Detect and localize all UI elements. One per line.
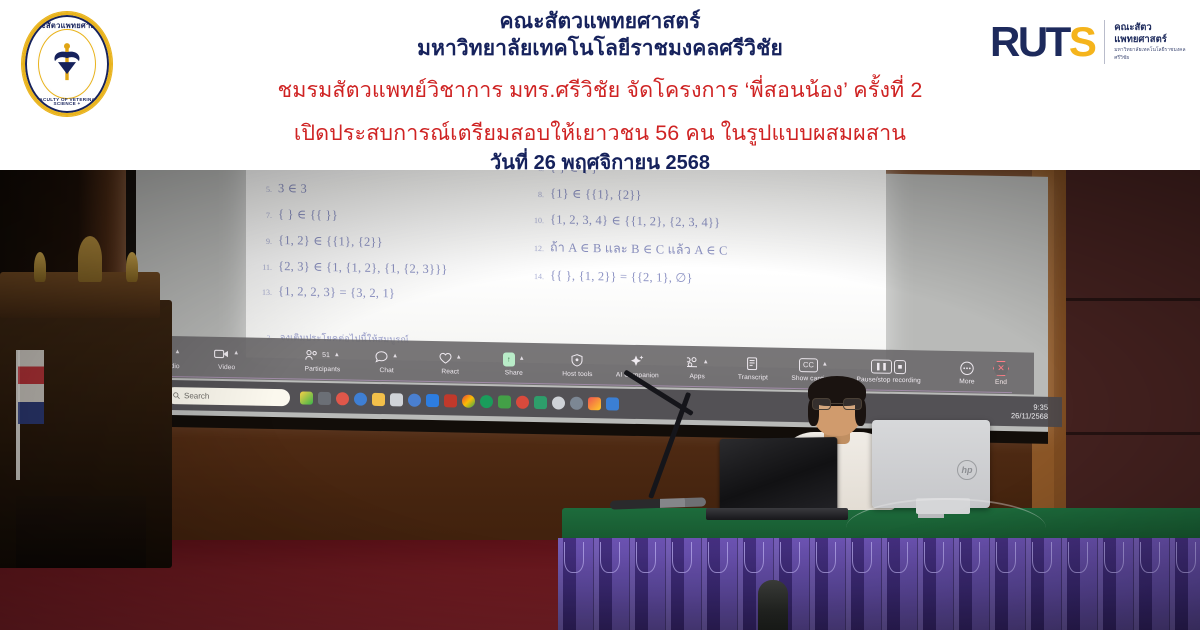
exercise-text: ถ้า A ∈ B และ B ∈ C แล้ว A ∈ C xyxy=(550,237,728,260)
skirt-pleat xyxy=(1062,538,1098,630)
exercise-number: 9. xyxy=(256,237,272,246)
exercise-number: 5. xyxy=(256,185,272,194)
thai-flag xyxy=(18,350,44,424)
taskbar-app-icon[interactable] xyxy=(516,395,529,408)
skirt-pleat xyxy=(558,538,594,630)
exercise-text: {1, 2, 2, 3} = {3, 2, 1} xyxy=(278,284,395,301)
hp-logo: hp xyxy=(957,460,977,480)
skirt-pleat xyxy=(1170,538,1200,630)
zoom-host-tools-label: Host tools xyxy=(562,371,592,379)
zoom-participants-button[interactable]: 51 ▲ Participants xyxy=(305,347,340,374)
zoom-video-button[interactable]: ▲ Video xyxy=(210,345,244,372)
zoom-transcript-button[interactable]: Transcript xyxy=(736,355,770,382)
record-controls-icon: ❚❚■ xyxy=(871,357,906,375)
taskbar-app-icon[interactable] xyxy=(354,392,367,405)
ruts-subtitle-line-1: คณะสัตวแพทยศาสตร์ xyxy=(1114,22,1190,46)
skirt-pleat xyxy=(702,538,738,630)
organization-line-1: คณะสัตวแพทยศาสตร์ xyxy=(200,8,1000,35)
closed-caption-icon: CC ▲ xyxy=(799,356,828,374)
zoom-participants-label: Participants xyxy=(305,366,341,374)
participant-count: 51 xyxy=(322,347,330,364)
chat-icon: ▲ xyxy=(375,348,398,365)
seal-arc-bottom-text: + FACULTY OF VETERINARY SCIENCE + xyxy=(25,98,109,107)
eyeglasses xyxy=(812,398,862,410)
news-banner-page: คณะสัตวแพทยศาสตร์ + FACULTY OF VETERINAR… xyxy=(0,0,1200,630)
zoom-chat-button[interactable]: ▲ Chat xyxy=(370,348,404,375)
taskbar-app-icon[interactable] xyxy=(552,396,565,409)
taskbar-app-icon[interactable] xyxy=(570,396,583,409)
seal-ring: คณะสัตวแพทยศาสตร์ + FACULTY OF VETERINAR… xyxy=(22,12,112,116)
banner-header: คณะสัตวแพทยศาสตร์ + FACULTY OF VETERINAR… xyxy=(0,0,1200,170)
taskbar-app-icon[interactable] xyxy=(588,397,601,410)
chevron-up-icon[interactable]: ▲ xyxy=(233,345,239,362)
ceremonial-urn xyxy=(126,252,138,282)
chevron-up-icon[interactable]: ▲ xyxy=(175,344,181,361)
ruts-logo-divider xyxy=(1104,20,1105,64)
ceremonial-urn xyxy=(34,252,46,282)
laptop-screen xyxy=(720,437,838,513)
skirt-pleat xyxy=(630,538,666,630)
slide-exercise-item: 9. {1, 2} ∈ {{1}, {2}} xyxy=(256,232,556,254)
zoom-end-button[interactable]: ✕ End xyxy=(984,360,1018,387)
exercise-number: 8. xyxy=(528,190,544,199)
skirt-pleat xyxy=(810,538,846,630)
altar-base xyxy=(16,496,146,568)
skirt-pleat xyxy=(666,538,702,630)
exercise-text: 3 ∈ 3 xyxy=(278,180,307,197)
slide-exercise-item: 13. {1, 2, 2, 3} = {3, 2, 1} xyxy=(256,284,556,305)
eyeglass-lens xyxy=(812,398,831,410)
end-call-icon: ✕ xyxy=(993,360,1009,377)
taskbar-app-icon[interactable] xyxy=(480,394,493,407)
ruts-logo: RUTS คณะสัตวแพทยศาสตร์ มหาวิทยาลัยเทคโนโ… xyxy=(990,14,1190,70)
sparkle-icon xyxy=(630,353,644,370)
ruts-letters-rut: RUT xyxy=(990,18,1069,65)
skirt-pleat xyxy=(1098,538,1134,630)
foreground-microphone xyxy=(758,580,788,630)
zoom-react-button[interactable]: ▲ React xyxy=(433,349,467,376)
exercise-number: 14. xyxy=(528,272,544,281)
faculty-seal-logo: คณะสัตวแพทยศาสตร์ + FACULTY OF VETERINAR… xyxy=(14,8,120,120)
organization-line-2: มหาวิทยาลัยเทคโนโลยีราชมงคลศรีวิชัย xyxy=(200,35,1000,62)
slide-exercise-item: 8. {1} ∈ {{1}, {2}} xyxy=(528,185,886,208)
skirt-pleats xyxy=(558,538,1200,630)
slide-exercise-item: 14. {{ }, {1, 2}} = {{2, 1}, ∅} xyxy=(528,267,886,290)
eyeglass-lens xyxy=(843,398,862,410)
apps-icon: ▲ xyxy=(686,354,709,371)
skirt-pleat xyxy=(954,538,990,630)
title-block: คณะสัตวแพทยศาสตร์ มหาวิทยาลัยเทคโนโลยีรา… xyxy=(200,8,1000,177)
wooden-altar-furniture xyxy=(0,300,172,568)
ruts-subtitle-line-2: มหาวิทยาลัยเทคโนโลยีราชมงคลศรีวิชัย xyxy=(1114,46,1190,62)
panel-seam xyxy=(1066,432,1200,435)
chevron-up-icon[interactable]: ▲ xyxy=(392,348,398,365)
chevron-up-icon[interactable]: ▲ xyxy=(519,351,525,368)
zoom-more-label: More xyxy=(959,378,974,385)
taskbar-search-input[interactable]: Search xyxy=(166,386,290,405)
skirt-pleat xyxy=(1026,538,1062,630)
chevron-up-icon[interactable]: ▲ xyxy=(822,357,828,374)
slide-exercise-item: 7. { } ∈ {{ }} xyxy=(256,206,556,228)
skirt-pleat xyxy=(918,538,954,630)
exercise-text: {1} ∈ {{1}, {2}} xyxy=(550,185,642,203)
table-skirt xyxy=(558,538,1200,630)
camera-icon: ▲ xyxy=(214,345,239,362)
ruts-logo-subtitle: คณะสัตวแพทยศาสตร์ มหาวิทยาลัยเทคโนโลยีรา… xyxy=(1114,22,1190,62)
taskbar-app-icon[interactable] xyxy=(372,392,385,405)
zoom-recording-controls-button[interactable]: ❚❚■ Pause/stop recording xyxy=(857,357,920,384)
buddha-statue xyxy=(78,236,102,282)
zoom-host-tools-button[interactable]: Host tools xyxy=(560,351,594,378)
taskbar-app-icon[interactable] xyxy=(462,394,475,407)
headline-line-2: เปิดประสบการณ์เตรียมสอบให้เยาวชน 56 คน ใ… xyxy=(200,119,1000,148)
taskbar-clock[interactable]: 9:35 26/11/2568 xyxy=(1011,402,1052,422)
exercise-text: {2, 3} ∈ {1, {1, 2}, {1, {2, 3}}} xyxy=(278,258,448,277)
zoom-recording-label: Pause/stop recording xyxy=(857,376,921,384)
exercise-text: {1, 2, 3, 4} ∈ {{1, 2}, {2, 3, 4}} xyxy=(550,211,720,230)
slide-right-column: 6. { } ∈ { } 8. {1} ∈ {{1}, {2}} 10. {1,… xyxy=(528,170,886,300)
caduceus-emblem-icon xyxy=(47,40,87,86)
zoom-end-label: End xyxy=(995,379,1007,386)
taskbar-app-icon[interactable] xyxy=(426,393,439,406)
transcript-icon xyxy=(747,355,759,372)
skirt-pleat xyxy=(594,538,630,630)
heart-icon: ▲ xyxy=(439,349,462,366)
exercise-number: 7. xyxy=(256,211,272,220)
zoom-share-button[interactable]: ↑ ▲ Share xyxy=(497,350,531,377)
zoom-react-label: React xyxy=(441,368,459,375)
projection-screen: 3. 14 ∈ {x ∈ ℕ | x … 5. 3 ∈ 3 7. { } ∈ {… xyxy=(126,170,1048,435)
eyeglass-bridge xyxy=(831,403,843,404)
zoom-video-label: Video xyxy=(218,364,235,371)
taskbar-app-icon[interactable] xyxy=(534,395,547,408)
exercise-text: { } ∈ {{ }} xyxy=(278,206,338,223)
shield-icon xyxy=(571,352,583,369)
slide-exercise-item: 12. ถ้า A ∈ B และ B ∈ C แล้ว A ∈ C xyxy=(528,237,886,264)
taskbar-app-icon[interactable] xyxy=(444,394,457,407)
laptop-keyboard-base xyxy=(706,508,848,520)
ruts-wordmark: RUTS xyxy=(990,21,1094,63)
taskbar-app-icon[interactable] xyxy=(318,391,331,404)
zoom-apps-label: Apps xyxy=(690,373,705,380)
skirt-pleat xyxy=(1134,538,1170,630)
share-screen-icon: ↑ ▲ xyxy=(503,350,525,367)
taskbar-app-icon[interactable] xyxy=(498,395,511,408)
exercise-number: 11. xyxy=(256,263,272,272)
exercise-text: {{ }, {1, 2}} = {{2, 1}, ∅} xyxy=(550,267,693,286)
zoom-more-button[interactable]: More xyxy=(950,359,984,386)
slide-left-column: 3. 14 ∈ {x ∈ ℕ | x … 5. 3 ∈ 3 7. { } ∈ {… xyxy=(256,170,556,314)
slide-exercise-item: 11. {2, 3} ∈ {1, {1, 2}, {1, {2, 3}}} xyxy=(256,258,556,280)
taskbar-app-icon[interactable] xyxy=(390,393,403,406)
taskbar-app-icon[interactable] xyxy=(408,393,421,406)
taskbar-app-icon[interactable] xyxy=(606,397,619,410)
taskbar-app-icon[interactable] xyxy=(336,392,349,405)
more-ellipsis-icon xyxy=(960,359,974,376)
zoom-ai-companion-button[interactable]: AI Companion xyxy=(616,353,658,380)
chevron-up-icon[interactable]: ▲ xyxy=(334,347,340,364)
event-photograph: 3. 14 ∈ {x ∈ ℕ | x … 5. 3 ∈ 3 7. { } ∈ {… xyxy=(0,170,1200,630)
taskbar-app-icon[interactable] xyxy=(300,391,313,404)
exercise-number: 10. xyxy=(528,216,544,225)
skirt-pleat xyxy=(990,538,1026,630)
headline-line-1: ชมรมสัตวแพทย์วิชาการ มทร.ศรีวิชัย จัดโคร… xyxy=(200,76,1000,105)
zoom-chat-label: Chat xyxy=(379,367,393,374)
zoom-apps-button[interactable]: ▲ Apps xyxy=(680,354,714,381)
skirt-pleat xyxy=(846,538,882,630)
event-date: วันที่ 26 พฤศจิกายน 2568 xyxy=(200,149,1000,177)
zoom-share-label: Share xyxy=(505,369,523,376)
exercise-number: 13. xyxy=(256,288,272,297)
search-icon xyxy=(173,392,180,399)
ruts-letter-s: S xyxy=(1069,18,1095,65)
taskbar-app-icons[interactable] xyxy=(300,391,619,410)
search-placeholder-text: Search xyxy=(184,391,209,400)
slide-exercise-item: 10. {1, 2, 3, 4} ∈ {{1, 2}, {2, 3, 4}} xyxy=(528,211,886,234)
zoom-transcript-label: Transcript xyxy=(738,374,768,382)
external-monitor: hp xyxy=(872,420,990,508)
clock-date: 26/11/2568 xyxy=(1011,411,1048,421)
participants-icon: 51 ▲ xyxy=(305,347,340,365)
exercise-number: 12. xyxy=(528,244,544,253)
panel-seam xyxy=(1066,298,1200,301)
exercise-text: {1, 2} ∈ {{1}, {2}} xyxy=(278,232,383,250)
chevron-up-icon[interactable]: ▲ xyxy=(456,349,462,366)
slide-exercise-item: 5. 3 ∈ 3 xyxy=(256,180,556,202)
skirt-pleat xyxy=(882,538,918,630)
chevron-up-icon[interactable]: ▲ xyxy=(703,354,709,371)
